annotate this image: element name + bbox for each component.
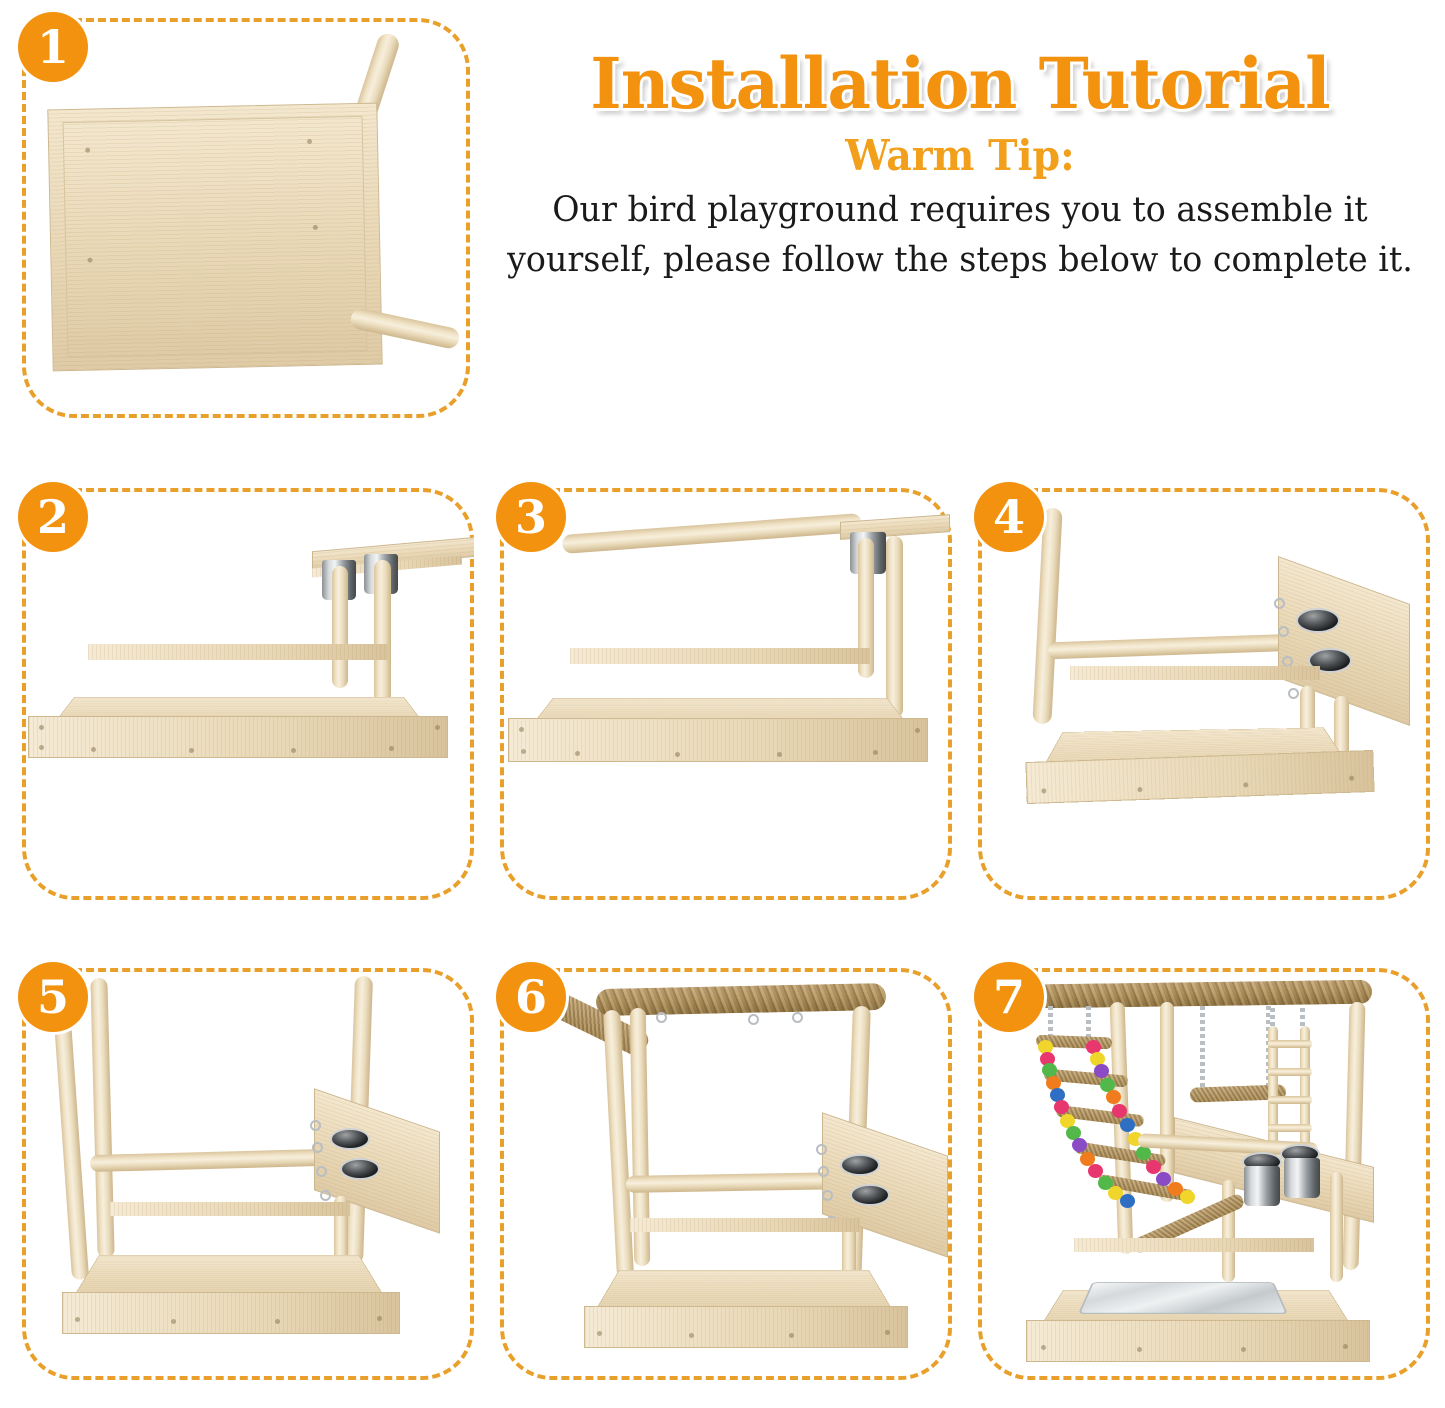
support-leg xyxy=(886,536,903,718)
ladder-bead xyxy=(1054,1100,1069,1114)
steel-cup xyxy=(1244,1166,1280,1206)
eye-hook xyxy=(1274,598,1285,609)
steel-cup xyxy=(330,1128,370,1150)
tutorial-page: Installation Tutorial Warm Tip: Our bird… xyxy=(0,0,1445,1408)
bark-branch xyxy=(1036,980,1372,1009)
eye-hook xyxy=(816,1144,827,1155)
ladder-rung xyxy=(1268,1040,1312,1048)
ladder-bead xyxy=(1106,1090,1121,1104)
eye-hook xyxy=(310,1120,321,1131)
ladder-rung xyxy=(1268,1068,1312,1076)
base-tray-front-wall xyxy=(62,1292,400,1334)
ladder-bead xyxy=(1088,1164,1103,1178)
steel-cup xyxy=(340,1158,380,1180)
steel-cup xyxy=(850,1184,890,1206)
step-badge-6: 6 xyxy=(496,962,566,1032)
ladder-bead xyxy=(1136,1146,1151,1160)
base-tray-back-wall xyxy=(1074,1238,1314,1252)
base-tray-front-wall xyxy=(584,1306,908,1348)
cup-shelf xyxy=(822,1112,948,1257)
support-leg xyxy=(332,566,348,688)
step-illustration-1 xyxy=(22,18,470,418)
eye-hook xyxy=(818,1166,829,1177)
step-illustration-4 xyxy=(978,488,1430,900)
ladder-rung xyxy=(1268,1096,1312,1104)
chain xyxy=(1086,1006,1091,1040)
step-badge-2: 2 xyxy=(18,482,88,552)
step-badge-5: 5 xyxy=(18,962,88,1032)
eye-hook xyxy=(656,1012,667,1023)
ladder-bead xyxy=(1112,1104,1127,1118)
step-illustration-3 xyxy=(500,488,952,900)
ladder-bead xyxy=(1180,1190,1195,1204)
tall-post xyxy=(1342,1002,1365,1270)
eye-hook xyxy=(320,1190,331,1201)
steel-cup xyxy=(840,1154,880,1176)
eye-hook xyxy=(822,1190,833,1201)
step-badge-4: 4 xyxy=(974,482,1044,552)
support-leg xyxy=(374,560,391,710)
base-tray-front-wall xyxy=(28,716,448,758)
base-tray-back-wall xyxy=(1070,666,1320,680)
eye-hook xyxy=(316,1166,327,1177)
tall-post xyxy=(52,990,89,1280)
step-illustration-2 xyxy=(22,488,474,900)
eye-hook xyxy=(1278,626,1289,637)
eye-hook xyxy=(792,1012,803,1023)
ladder-bead xyxy=(1146,1160,1161,1174)
step-illustration-6 xyxy=(500,968,952,1380)
steel-cup xyxy=(1284,1158,1320,1198)
base-tray-front-wall xyxy=(508,718,928,762)
horizontal-perch xyxy=(1048,634,1298,660)
horizontal-perch xyxy=(90,1149,322,1172)
base-tray-back-wall xyxy=(570,648,870,664)
step-illustration-5 xyxy=(22,968,474,1380)
step-badge-7: 7 xyxy=(974,962,1044,1032)
base-tray-back-wall xyxy=(88,644,388,660)
ladder-bead xyxy=(1094,1064,1109,1078)
ladder-bead xyxy=(1120,1118,1135,1132)
support-leg xyxy=(1330,1172,1343,1282)
base-tray-front-wall xyxy=(1026,1320,1370,1362)
warm-tip-label: Warm Tip: xyxy=(509,131,1411,180)
horizontal-perch xyxy=(562,513,863,554)
eye-hook xyxy=(312,1142,323,1153)
eye-hook xyxy=(1288,688,1299,699)
ladder-bead xyxy=(1042,1063,1057,1077)
base-tray-back-wall xyxy=(110,1202,350,1216)
base-tray-back-wall xyxy=(630,1218,860,1232)
steel-cup xyxy=(1296,608,1340,633)
chain xyxy=(1200,1006,1205,1088)
tall-post xyxy=(90,978,114,1258)
tall-post xyxy=(1032,508,1062,725)
eye-hook xyxy=(748,1014,759,1025)
step-illustration-7 xyxy=(978,968,1430,1380)
header-block: Installation Tutorial Warm Tip: Our bird… xyxy=(480,48,1440,286)
ladder-bead xyxy=(1072,1138,1087,1152)
steel-pull-out-tray xyxy=(1078,1282,1288,1314)
step-badge-1: 1 xyxy=(18,12,88,82)
step-badge-3: 3 xyxy=(496,482,566,552)
ladder-bead xyxy=(1120,1194,1135,1208)
ladder-rung xyxy=(1268,1124,1312,1132)
warm-tip-body: Our bird playground requires you to asse… xyxy=(504,186,1416,285)
base-tray-underside xyxy=(47,103,382,372)
page-title: Installation Tutorial xyxy=(499,48,1421,119)
horizontal-perch xyxy=(626,1172,846,1193)
